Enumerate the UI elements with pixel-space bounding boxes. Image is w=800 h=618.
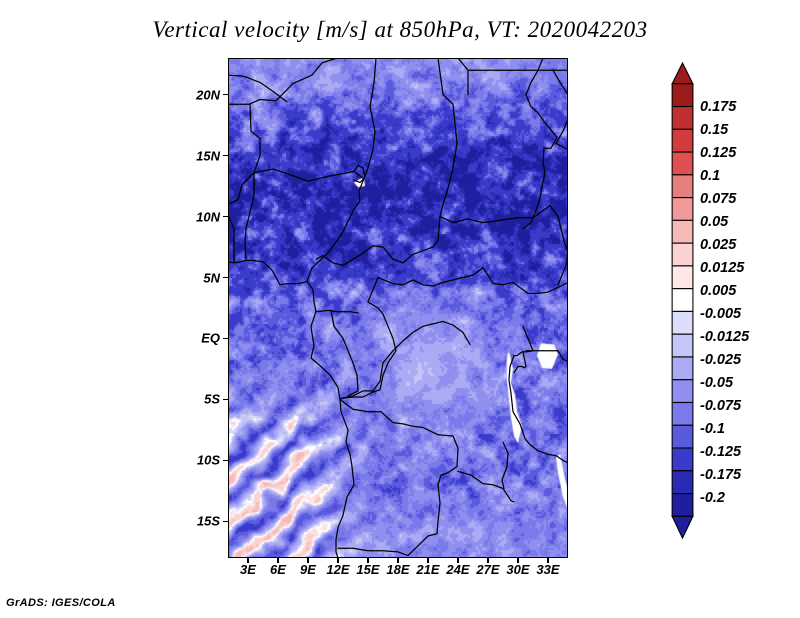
- map-plot-area: [228, 58, 568, 558]
- colorbar-tick-label: 0.125: [700, 145, 736, 161]
- colorbar-tick-label: -0.175: [700, 467, 741, 483]
- plot-frame: [228, 58, 568, 558]
- colorbar-tick-label: 0.15: [700, 122, 728, 138]
- x-tick-label: 3E: [240, 562, 256, 577]
- y-tick-mark: [223, 460, 228, 461]
- x-tick-label: 12E: [326, 562, 349, 577]
- colorbar-swatch: [672, 380, 693, 403]
- colorbar-tick-label: -0.025: [700, 352, 741, 368]
- colorbar-swatch: [672, 243, 693, 266]
- y-tick-mark: [223, 155, 228, 156]
- colorbar-tick-label: 0.075: [700, 191, 736, 207]
- colorbar-swatch: [672, 152, 693, 175]
- colorbar-tick-label: -0.1: [700, 421, 725, 437]
- x-tick-label: 21E: [416, 562, 439, 577]
- colorbar-tick-label: 0.175: [700, 99, 736, 115]
- page-title: Vertical velocity [m/s] at 850hPa, VT: 2…: [0, 17, 800, 43]
- colorbar-tick-label: -0.05: [700, 375, 733, 391]
- x-tick-label: 15E: [356, 562, 379, 577]
- colorbar-swatch: [672, 311, 693, 334]
- y-tick-mark: [223, 216, 228, 217]
- colorbar-swatch: [672, 334, 693, 357]
- x-tick-label: 18E: [386, 562, 409, 577]
- y-tick-mark: [223, 277, 228, 278]
- colorbar-tick-label: 0.025: [700, 237, 736, 253]
- colorbar-swatch: [672, 289, 693, 312]
- x-tick-label: 33E: [536, 562, 559, 577]
- x-tick-label: 24E: [446, 562, 469, 577]
- colorbar-swatch: [672, 84, 693, 107]
- colorbar-tick-label: -0.0125: [700, 329, 749, 345]
- y-tick-mark: [223, 338, 228, 339]
- colorbar-swatches: [670, 62, 700, 547]
- y-tick-label: 20N: [168, 87, 220, 102]
- y-tick-label: 10S: [168, 453, 220, 468]
- y-tick-mark: [223, 94, 228, 95]
- x-tick-label: 6E: [270, 562, 286, 577]
- colorbar-swatch: [672, 402, 693, 425]
- colorbar-swatch: [672, 220, 693, 243]
- colorbar-tick-label: 0.005: [700, 283, 736, 299]
- colorbar-swatch: [672, 494, 693, 517]
- footer-credit: GrADS: IGES/COLA: [6, 597, 116, 609]
- x-tick-label: 30E: [506, 562, 529, 577]
- colorbar-tick-label: -0.075: [700, 398, 741, 414]
- y-tick-mark: [223, 399, 228, 400]
- colorbar-swatch: [672, 357, 693, 380]
- x-tick-label: 27E: [476, 562, 499, 577]
- colorbar-tick-label: -0.005: [700, 306, 741, 322]
- y-tick-label: 15N: [168, 148, 220, 163]
- grads-figure: Vertical velocity [m/s] at 850hPa, VT: 2…: [0, 0, 800, 618]
- colorbar-tick-label: 0.05: [700, 214, 728, 230]
- colorbar-tick-label: 0.1: [700, 168, 720, 184]
- y-tick-label: 15S: [168, 514, 220, 529]
- colorbar: 0.1750.150.1250.10.0750.050.0250.01250.0…: [670, 62, 790, 552]
- colorbar-tick-label: -0.2: [700, 490, 725, 506]
- colorbar-swatch: [672, 471, 693, 494]
- colorbar-tick-label: 0.0125: [700, 260, 744, 276]
- colorbar-swatch: [672, 129, 693, 152]
- colorbar-swatch: [672, 175, 693, 198]
- colorbar-max-arrow: [672, 63, 693, 84]
- colorbar-swatch: [672, 448, 693, 471]
- y-tick-label: EQ: [168, 331, 220, 346]
- colorbar-min-arrow: [672, 516, 693, 538]
- colorbar-swatch: [672, 266, 693, 289]
- y-tick-mark: [223, 521, 228, 522]
- colorbar-tick-label: -0.125: [700, 444, 741, 460]
- y-tick-label: 5S: [168, 392, 220, 407]
- y-tick-label: 10N: [168, 209, 220, 224]
- x-tick-label: 9E: [300, 562, 316, 577]
- colorbar-swatch: [672, 107, 693, 130]
- colorbar-swatch: [672, 198, 693, 221]
- colorbar-swatch: [672, 425, 693, 448]
- y-tick-label: 5N: [168, 270, 220, 285]
